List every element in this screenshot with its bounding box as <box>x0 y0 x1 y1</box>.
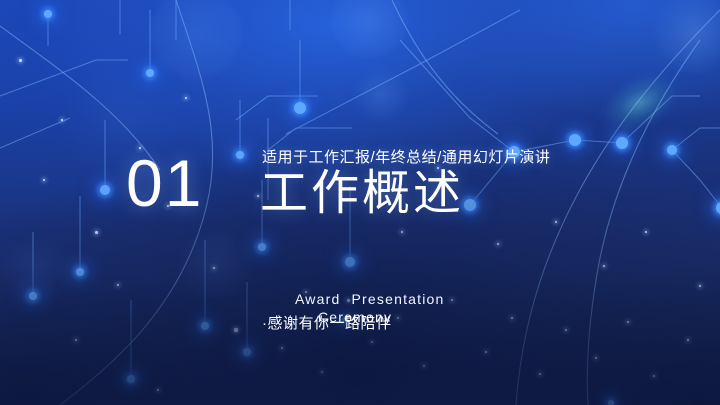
page-title: 工作概述 <box>260 168 464 220</box>
section-number: 01 <box>126 150 203 216</box>
award-caption-line: Award Presentation <box>295 291 445 307</box>
thanks-caption-line: ·感谢有你一路陪伴 <box>262 312 392 333</box>
slide-content: 01 适用于工作汇报/年终总结/通用幻灯片演讲 工作概述 Award Prese… <box>0 0 720 405</box>
presentation-slide: 01 适用于工作汇报/年终总结/通用幻灯片演讲 工作概述 Award Prese… <box>0 0 720 405</box>
slide-subtitle: 适用于工作汇报/年终总结/通用幻灯片演讲 <box>262 146 550 167</box>
